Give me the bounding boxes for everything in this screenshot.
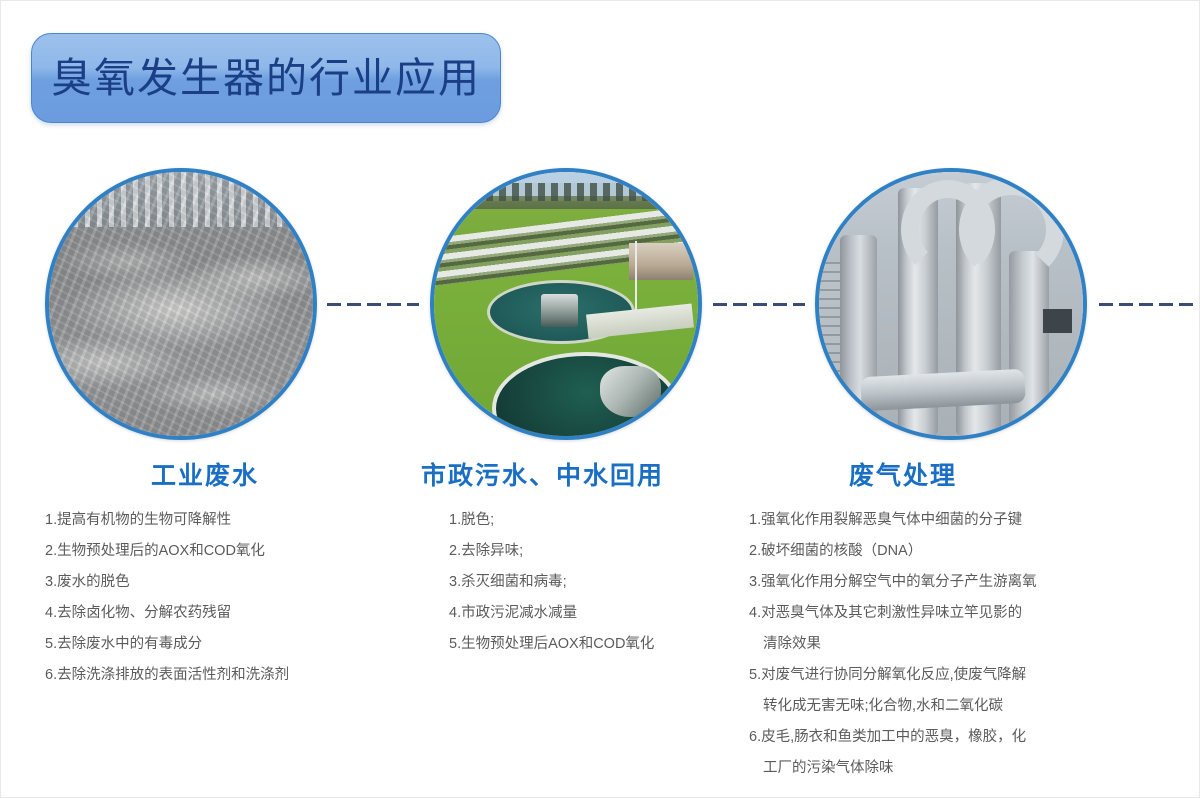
photo-clarifier-lower: [492, 352, 680, 440]
list-item: 1.强氧化作用裂解恶臭气体中细菌的分子键: [749, 505, 1169, 536]
connector-dashed-line-2: [713, 303, 805, 306]
page-title: 臭氧发生器的行业应用: [51, 58, 481, 99]
list-industrial-wastewater: 1.提高有机物的生物可降解性 2.生物预处理后的AOX和COD氧化 3.废水的脱…: [45, 505, 405, 691]
list-item: 2.生物预处理后的AOX和COD氧化: [45, 536, 405, 567]
column-municipal-sewage: 市政污水、中水回用 1.脱色; 2.去除异味; 3.杀灭细菌和病毒; 4.市政污…: [421, 463, 751, 660]
list-item: 5.去除废水中的有毒成分: [45, 629, 405, 660]
list-item: 1.脱色;: [449, 505, 751, 536]
list-waste-gas-treatment: 1.强氧化作用裂解恶臭气体中细菌的分子键 2.破坏细菌的核酸（DNA） 3.强氧…: [749, 505, 1169, 784]
photo-treatment-plant-aerial: [434, 172, 698, 436]
list-item: 3.强氧化作用分解空气中的氧分子产生游离氧: [749, 567, 1169, 598]
list-item: 3.废水的脱色: [45, 567, 405, 598]
connector-dashed-line-3: [1099, 303, 1200, 306]
list-item: 1.提高有机物的生物可降解性: [45, 505, 405, 536]
heading-municipal-sewage: 市政污水、中水回用: [421, 463, 751, 491]
photo-light-pole: [635, 241, 637, 320]
page-title-banner: 臭氧发生器的行业应用: [31, 33, 501, 123]
list-item: 3.杀灭细菌和病毒;: [449, 567, 751, 598]
photo-aeration-basin: [49, 172, 313, 436]
list-item: 2.破坏细菌的核酸（DNA）: [749, 536, 1169, 567]
list-item: 5.对废气进行协同分解氧化反应,使废气降解: [749, 660, 1169, 691]
heading-industrial-wastewater: 工业废水: [45, 463, 405, 491]
list-item-continuation: 清除效果: [749, 629, 1169, 660]
list-item-continuation: 工厂的污染气体除味: [749, 753, 1169, 784]
circle-image-waste-gas: [815, 168, 1087, 440]
list-item: 4.对恶臭气体及其它刺激性异味立竿见影的: [749, 598, 1169, 629]
connector-dashed-line-1: [327, 303, 419, 306]
photo-control-panel: [1043, 309, 1072, 333]
circle-image-municipal-sewage: [430, 168, 702, 440]
photo-duct-elbow-right: [959, 177, 1064, 282]
column-industrial-wastewater: 工业废水 1.提高有机物的生物可降解性 2.生物预处理后的AOX和COD氧化 3…: [45, 463, 405, 691]
list-item: 4.市政污泥减水减量: [449, 598, 751, 629]
list-item: 5.生物预处理后AOX和COD氧化: [449, 629, 751, 660]
photo-skyline: [434, 183, 698, 201]
list-item: 6.皮毛,肠衣和鱼类加工中的恶臭，橡胶，化: [749, 722, 1169, 753]
list-municipal-sewage: 1.脱色; 2.去除异味; 3.杀灭细菌和病毒; 4.市政污泥减水减量 5.生物…: [421, 505, 751, 660]
list-item-continuation: 转化成无害无味;化合物,水和二氧化碳: [749, 691, 1169, 722]
heading-waste-gas-treatment: 废气处理: [749, 463, 1169, 491]
slide-page: 臭氧发生器的行业应用: [0, 0, 1200, 798]
list-item: 2.去除异味;: [449, 536, 751, 567]
circle-image-industrial-wastewater: [45, 168, 317, 440]
list-item: 4.去除卤化物、分解农药残留: [45, 598, 405, 629]
column-waste-gas-treatment: 废气处理 1.强氧化作用裂解恶臭气体中细菌的分子键 2.破坏细菌的核酸（DNA）…: [749, 463, 1169, 784]
photo-exhaust-ducts: [819, 172, 1083, 436]
list-item: 6.去除洗涤排放的表面活性剂和洗涤剂: [45, 660, 405, 691]
photo-buildings: [629, 243, 692, 280]
